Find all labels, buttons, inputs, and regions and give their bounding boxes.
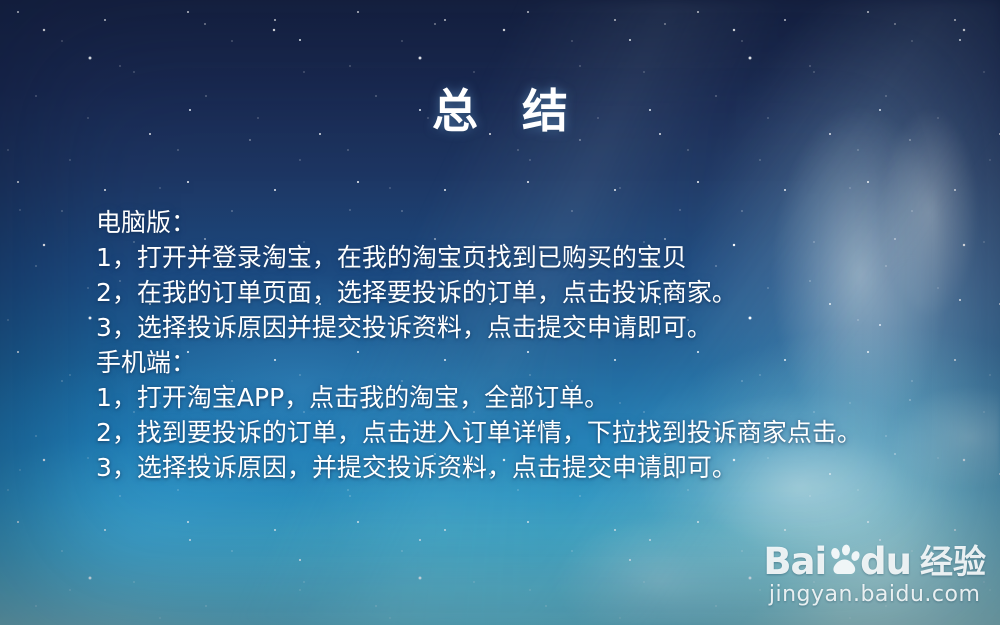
slide-canvas: 总 结 电脑版： 1，打开并登录淘宝，在我的淘宝页找到已购买的宝贝 2，在我的订… [0, 0, 1000, 625]
text-line-mobile-step-2: 2，找到要投诉的订单，点击进入订单详情，下拉找到投诉商家点击。 [96, 415, 982, 450]
page-title: 总 结 [0, 88, 1000, 134]
text-line-computer-step-1: 1，打开并登录淘宝，在我的淘宝页找到已购买的宝贝 [96, 240, 982, 275]
text-line-computer-heading: 电脑版： [96, 205, 982, 240]
slide-content: 总 结 电脑版： 1，打开并登录淘宝，在我的淘宝页找到已购买的宝贝 2，在我的订… [0, 0, 1000, 625]
text-line-computer-step-2: 2，在我的订单页面，选择要投诉的订单，点击投诉商家。 [96, 275, 982, 310]
text-line-computer-step-3: 3，选择投诉原因并提交投诉资料，点击提交申请即可。 [96, 310, 982, 345]
watermark-url: jingyan.baidu.com [763, 582, 986, 607]
baidu-logo: Bai du 经验 [763, 539, 986, 581]
text-line-mobile-step-3: 3，选择投诉原因，并提交投诉资料，点击提交申请即可。 [96, 450, 982, 485]
baidu-paw-icon [824, 542, 864, 582]
text-line-mobile-heading: 手机端： [96, 345, 982, 380]
baidu-logo-jingyan: 经验 [920, 543, 986, 581]
baidu-logo-du: du [860, 543, 911, 581]
text-line-mobile-step-1: 1，打开淘宝APP，点击我的淘宝，全部订单。 [96, 380, 982, 415]
baidu-jingyan-watermark: Bai du 经验 jingyan.baidu.com [763, 539, 986, 607]
summary-text-block: 电脑版： 1，打开并登录淘宝，在我的淘宝页找到已购买的宝贝 2，在我的订单页面，… [96, 205, 982, 485]
baidu-logo-bai: Bai [763, 543, 826, 581]
